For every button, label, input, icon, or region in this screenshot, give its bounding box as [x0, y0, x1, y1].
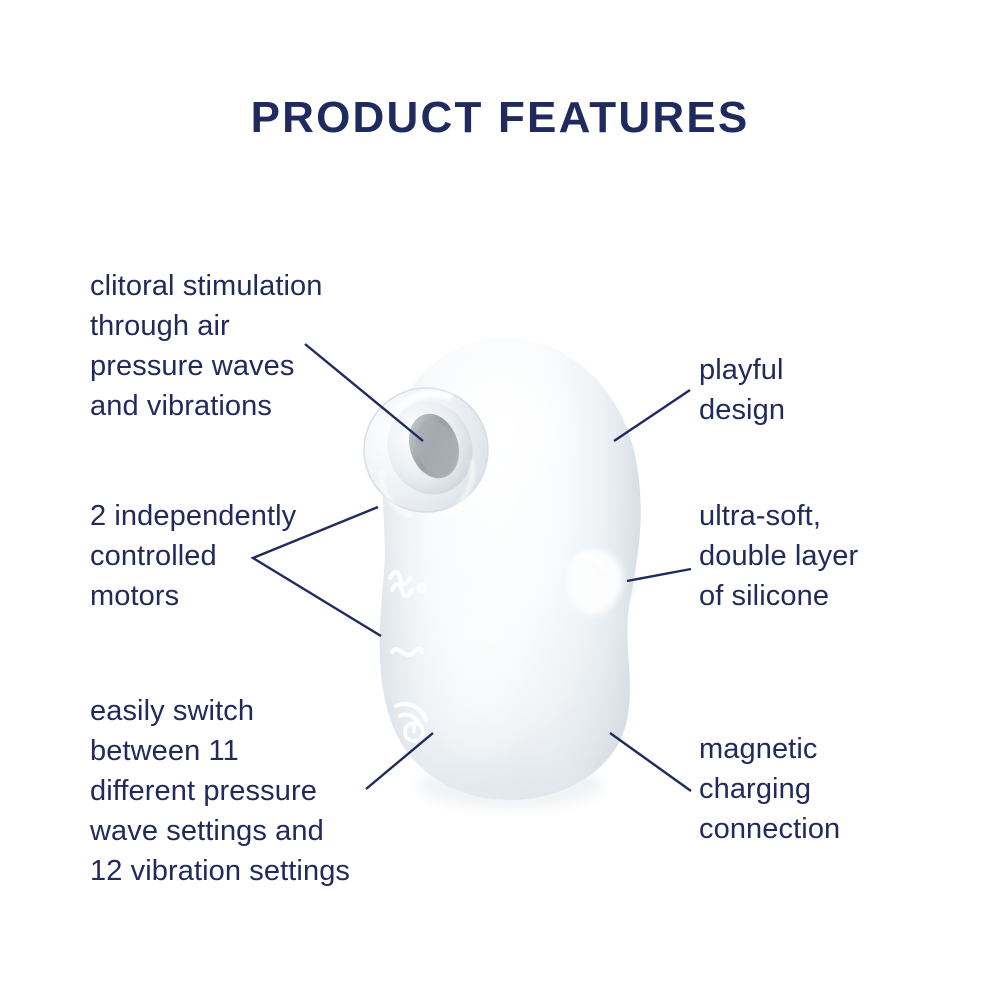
callout-silicone: ultra-soft, double layer of silicone [699, 496, 969, 616]
callout-settings: easily switch between 11 different press… [90, 691, 420, 891]
callout-clitoral-stimulation: clitoral stimulation through air pressur… [90, 266, 390, 426]
callout-independent-motors: 2 independently controlled motors [90, 496, 390, 616]
callout-magnetic-charging: magnetic charging connection [699, 729, 969, 849]
callout-playful-design: playful design [699, 350, 959, 430]
page-title: PRODUCT FEATURES [0, 93, 1000, 143]
product-features-infographic: PRODUCT FEATURES [0, 0, 1000, 1000]
